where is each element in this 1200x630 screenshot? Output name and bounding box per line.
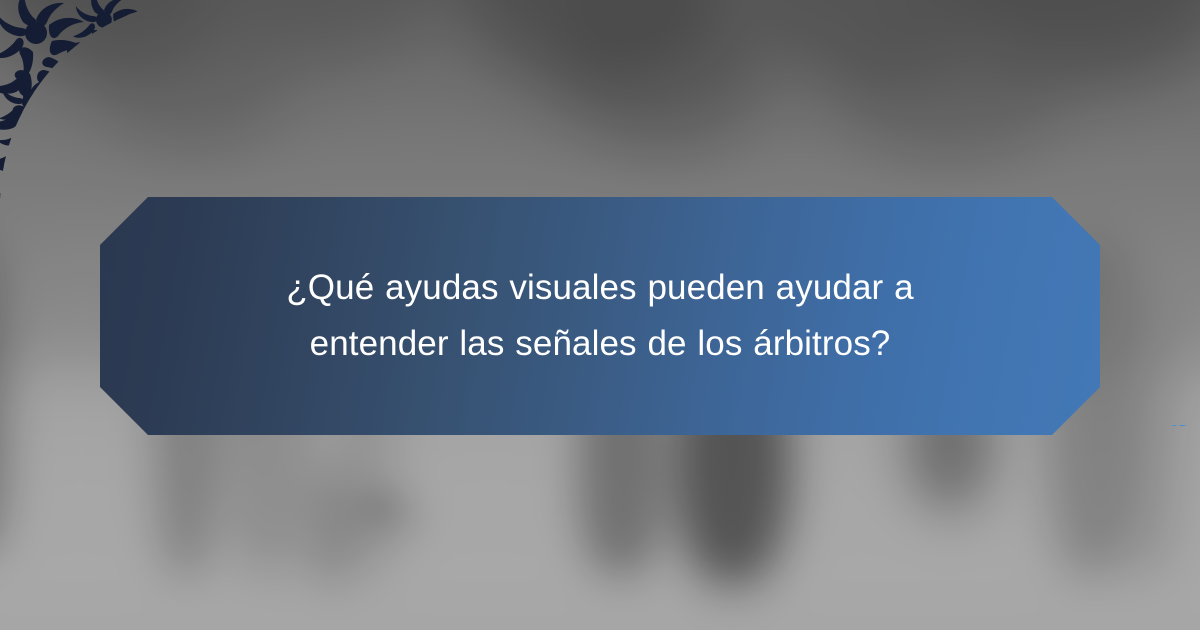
- background-blur-blob: [833, 2, 1066, 161]
- background-ball: [367, 495, 397, 514]
- social-card: ¿Qué ayudas visuales pueden ayudar a ent…: [0, 0, 1200, 630]
- title-banner: ¿Qué ayudas visuales pueden ayudar a ent…: [100, 197, 1100, 435]
- background-player-silhouette: [303, 469, 356, 586]
- page-title: ¿Qué ayudas visuales pueden ayudar a ent…: [250, 260, 950, 372]
- background-player-silhouette: [1109, 278, 1183, 575]
